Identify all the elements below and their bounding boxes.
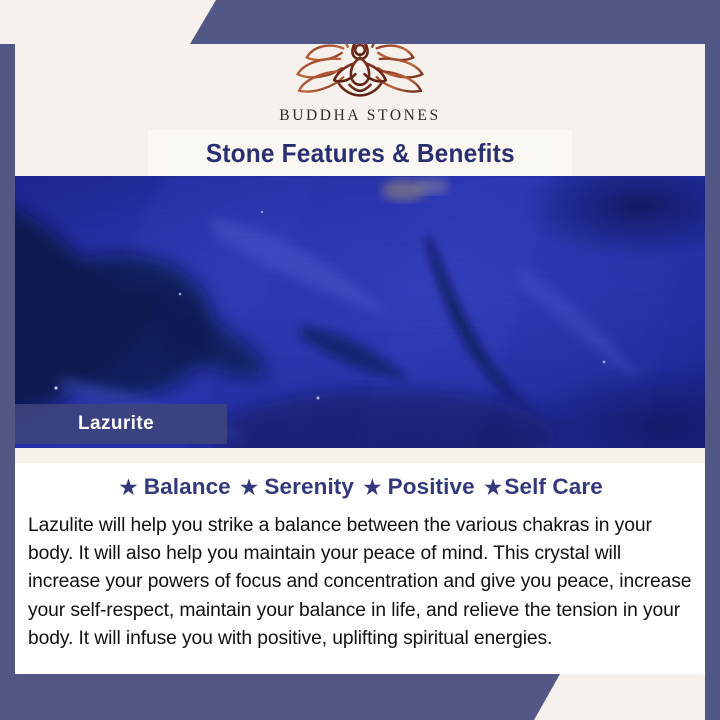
benefit-label: Self Care: [504, 474, 602, 500]
frame-top-bar: [190, 0, 720, 44]
benefit-item-self-care: ★ Self Care: [483, 474, 603, 500]
star-icon: ★: [362, 476, 383, 499]
benefit-item-positive: ★ Positive: [362, 474, 475, 500]
brand-wordmark: BUDDHA STONES: [279, 107, 440, 125]
star-icon: ★: [483, 476, 504, 499]
benefit-item-serenity: ★ Serenity: [239, 474, 354, 500]
benefits-row: ★ Balance ★ Serenity ★ Positive ★ Self C…: [15, 474, 706, 500]
stone-name-badge: Lazurite: [15, 404, 227, 444]
frame-bottom-bar: [0, 674, 560, 720]
benefit-label: Balance: [144, 474, 231, 500]
benefit-item-balance: ★ Balance: [118, 474, 231, 500]
star-icon: ★: [239, 476, 260, 499]
stone-name-label: Lazurite: [78, 413, 154, 435]
stone-info-card: Lazurite: [0, 0, 720, 720]
frame-right-bar: [705, 0, 720, 720]
content-card: ★ Balance ★ Serenity ★ Positive ★ Self C…: [15, 463, 706, 674]
benefit-label: Positive: [388, 474, 475, 500]
frame-left-bar: [0, 44, 15, 720]
star-icon: ★: [118, 476, 139, 499]
page-title-banner: Stone Features & Benefits: [148, 130, 572, 176]
card-top-strip: [15, 448, 706, 463]
benefit-label: Serenity: [264, 474, 354, 500]
page-title: Stone Features & Benefits: [206, 138, 515, 169]
stone-description: Lazulite will help you strike a balance …: [28, 512, 694, 653]
